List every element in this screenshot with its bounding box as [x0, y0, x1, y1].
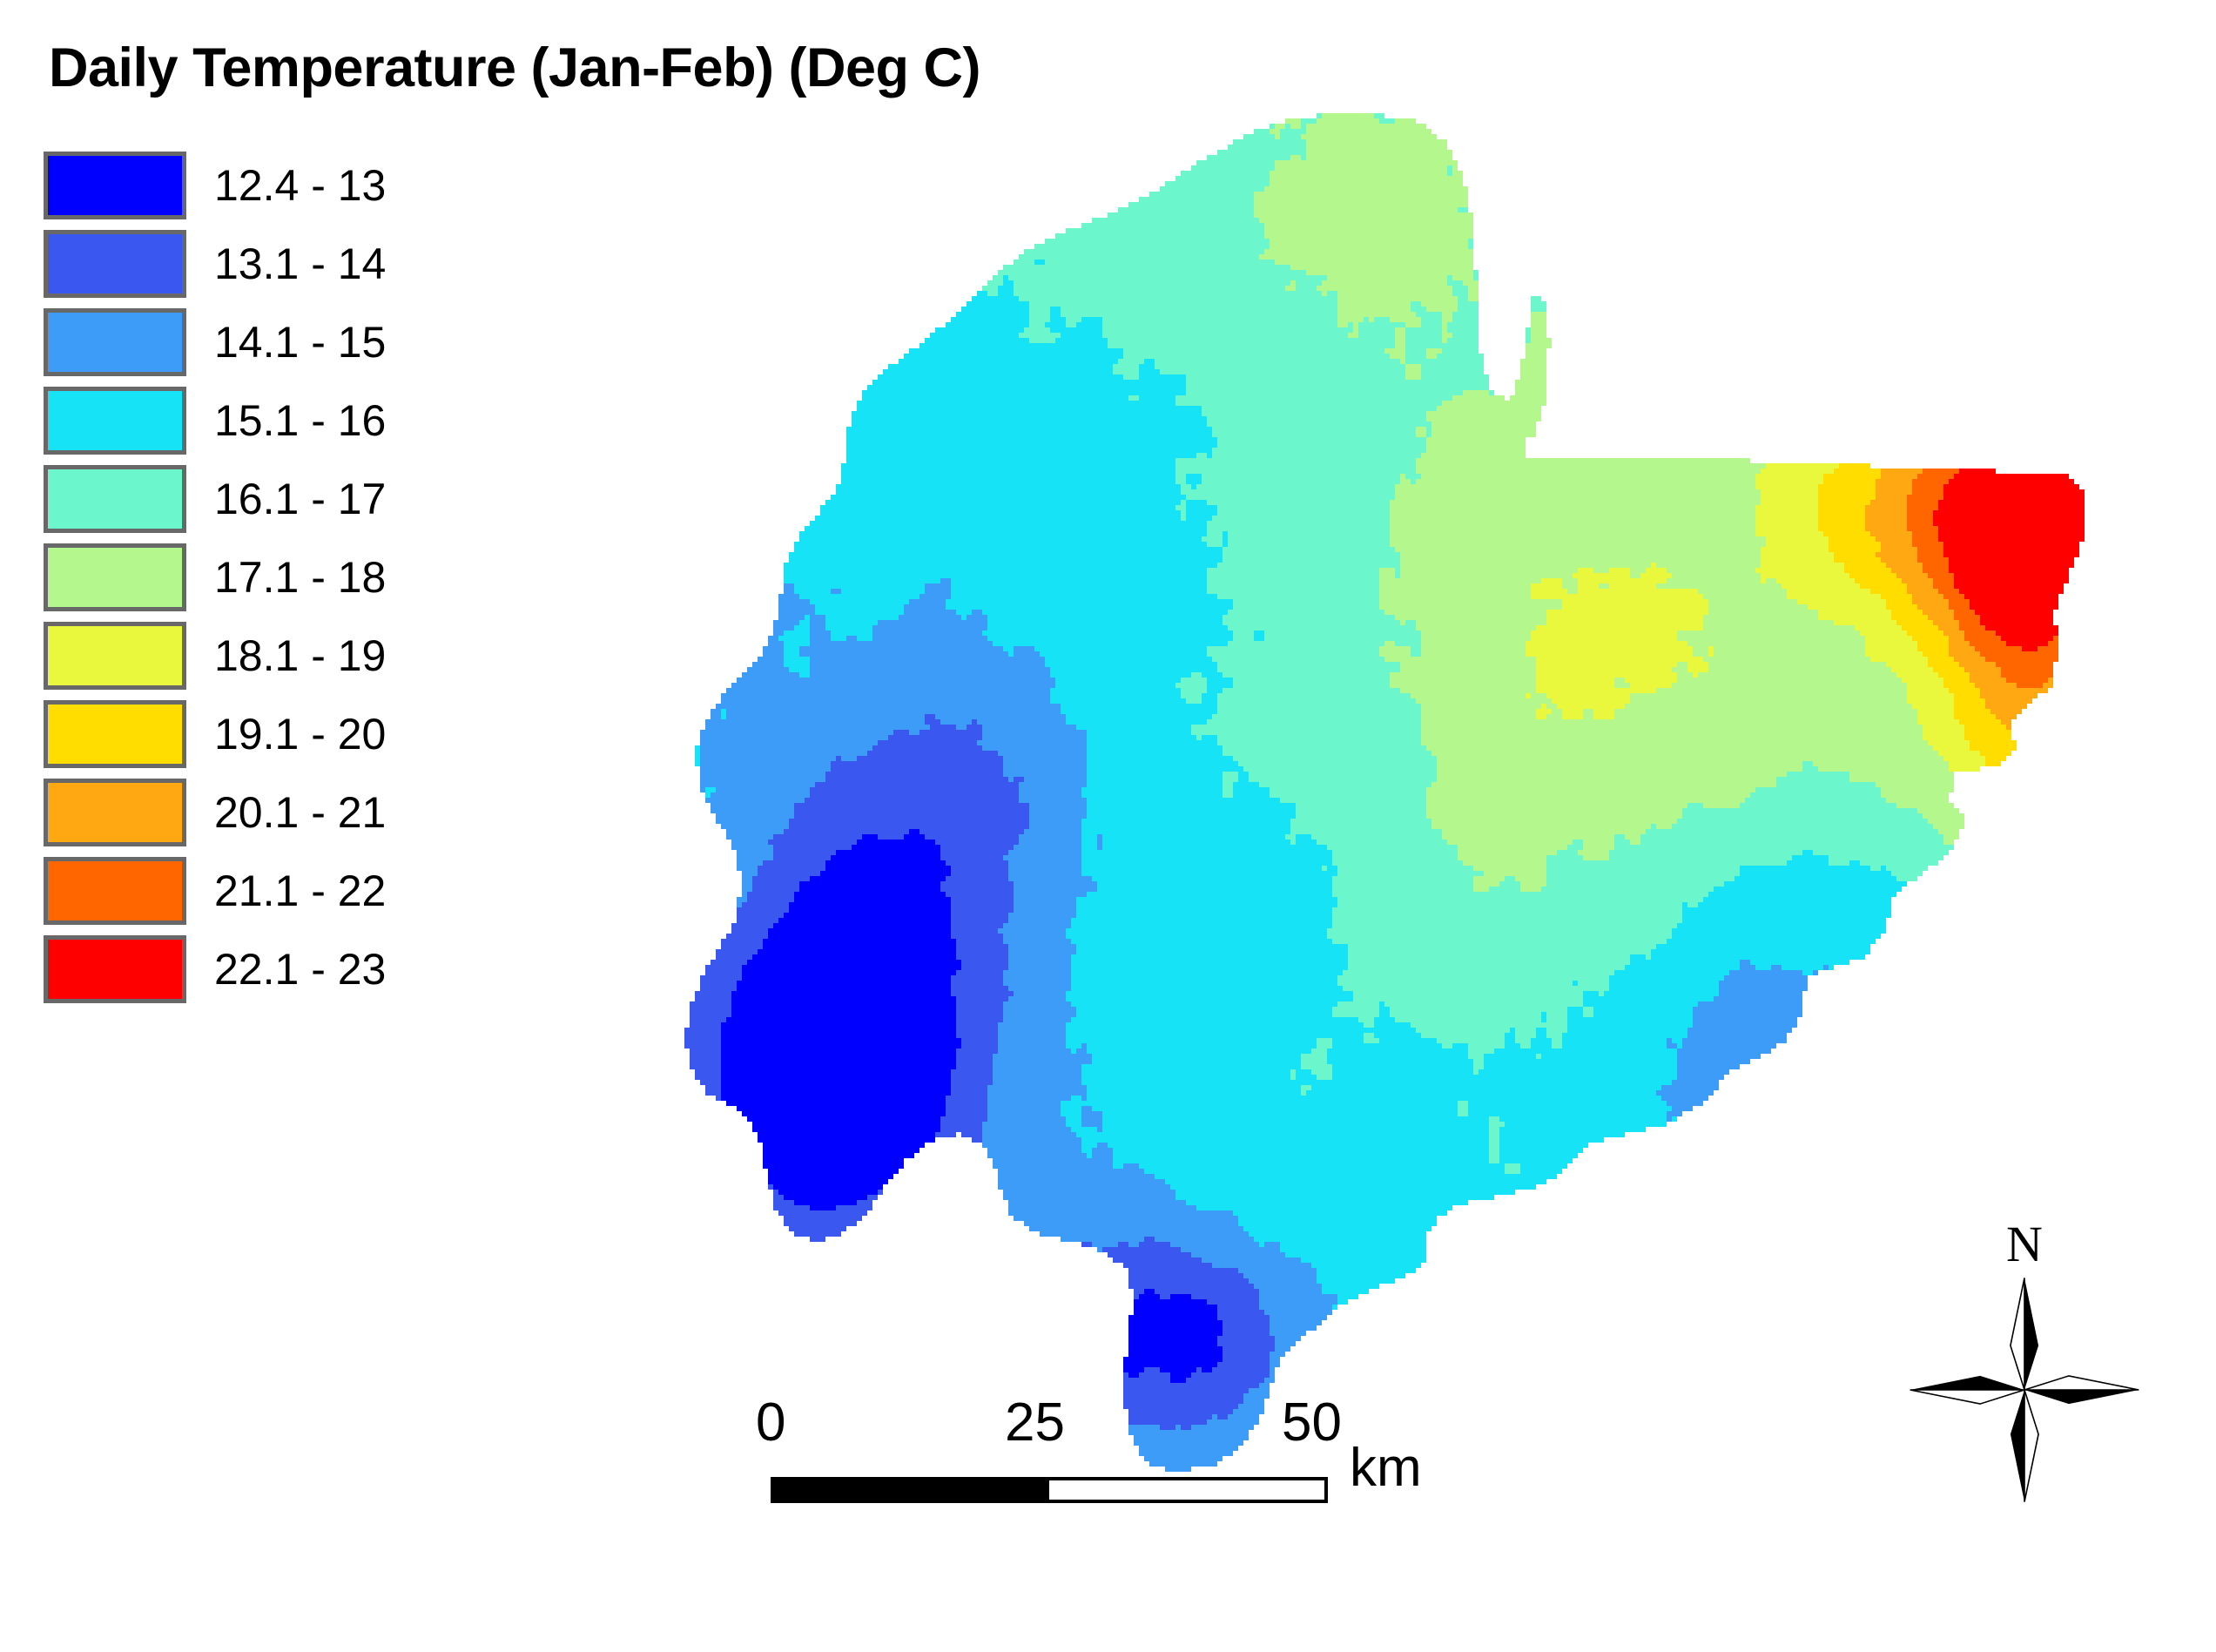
legend-color-swatch: [44, 465, 186, 533]
legend-row[interactable]: 12.4 - 13: [44, 152, 444, 219]
legend-color-swatch: [44, 935, 186, 1003]
legend-row[interactable]: 18.1 - 19: [44, 622, 444, 690]
legend-range-label: 15.1 - 16: [214, 395, 386, 446]
legend-range-label: 14.1 - 15: [214, 317, 386, 367]
legend-range-label: 20.1 - 21: [214, 787, 386, 838]
legend-color-swatch: [44, 622, 186, 690]
legend-row[interactable]: 15.1 - 16: [44, 387, 444, 455]
legend-row[interactable]: 17.1 - 18: [44, 543, 444, 611]
legend-color-swatch: [44, 308, 186, 376]
legend-range-label: 21.1 - 22: [214, 866, 386, 916]
legend-range-label: 17.1 - 18: [214, 552, 386, 603]
scale-bar-segment-filled: [774, 1480, 1049, 1500]
scale-bar-segment-empty: [1049, 1480, 1324, 1500]
legend-range-label: 13.1 - 14: [214, 239, 386, 289]
map-raster-container[interactable]: [679, 87, 2090, 1498]
scale-tick-50: 50: [1282, 1392, 1342, 1453]
north-arrow: N: [1907, 1219, 2142, 1507]
legend-range-label: 12.4 - 13: [214, 160, 386, 211]
legend-row[interactable]: 21.1 - 22: [44, 857, 444, 925]
legend-color-swatch: [44, 857, 186, 925]
legend-row[interactable]: 20.1 - 21: [44, 779, 444, 846]
scale-bar: 0 25 50 km: [749, 1392, 1358, 1522]
north-label: N: [1907, 1219, 2142, 1270]
scale-tick-25: 25: [1005, 1392, 1065, 1453]
legend-row[interactable]: 16.1 - 17: [44, 465, 444, 533]
legend-range-label: 18.1 - 19: [214, 630, 386, 681]
temperature-raster-map[interactable]: [679, 87, 2090, 1498]
legend-row[interactable]: 19.1 - 20: [44, 700, 444, 768]
legend-range-label: 16.1 - 17: [214, 474, 386, 524]
scale-tick-0: 0: [756, 1392, 785, 1453]
scale-bar-unit-label: km: [1350, 1437, 1422, 1499]
legend-row[interactable]: 22.1 - 23: [44, 935, 444, 1003]
legend-color-swatch: [44, 779, 186, 846]
legend-row[interactable]: 13.1 - 14: [44, 230, 444, 298]
legend-color-swatch: [44, 230, 186, 298]
scale-bar-graphic: [771, 1477, 1328, 1503]
legend-color-swatch: [44, 152, 186, 219]
legend-color-swatch: [44, 387, 186, 455]
compass-rose-icon: [1907, 1273, 2142, 1507]
legend-row[interactable]: 14.1 - 15: [44, 308, 444, 376]
scale-bar-ticks: 0 25 50: [749, 1392, 1358, 1461]
legend-color-swatch: [44, 543, 186, 611]
legend-range-label: 22.1 - 23: [214, 944, 386, 995]
legend-color-swatch: [44, 700, 186, 768]
legend-range-label: 19.1 - 20: [214, 709, 386, 759]
legend: 12.4 - 1313.1 - 1414.1 - 1515.1 - 1616.1…: [44, 152, 444, 1014]
